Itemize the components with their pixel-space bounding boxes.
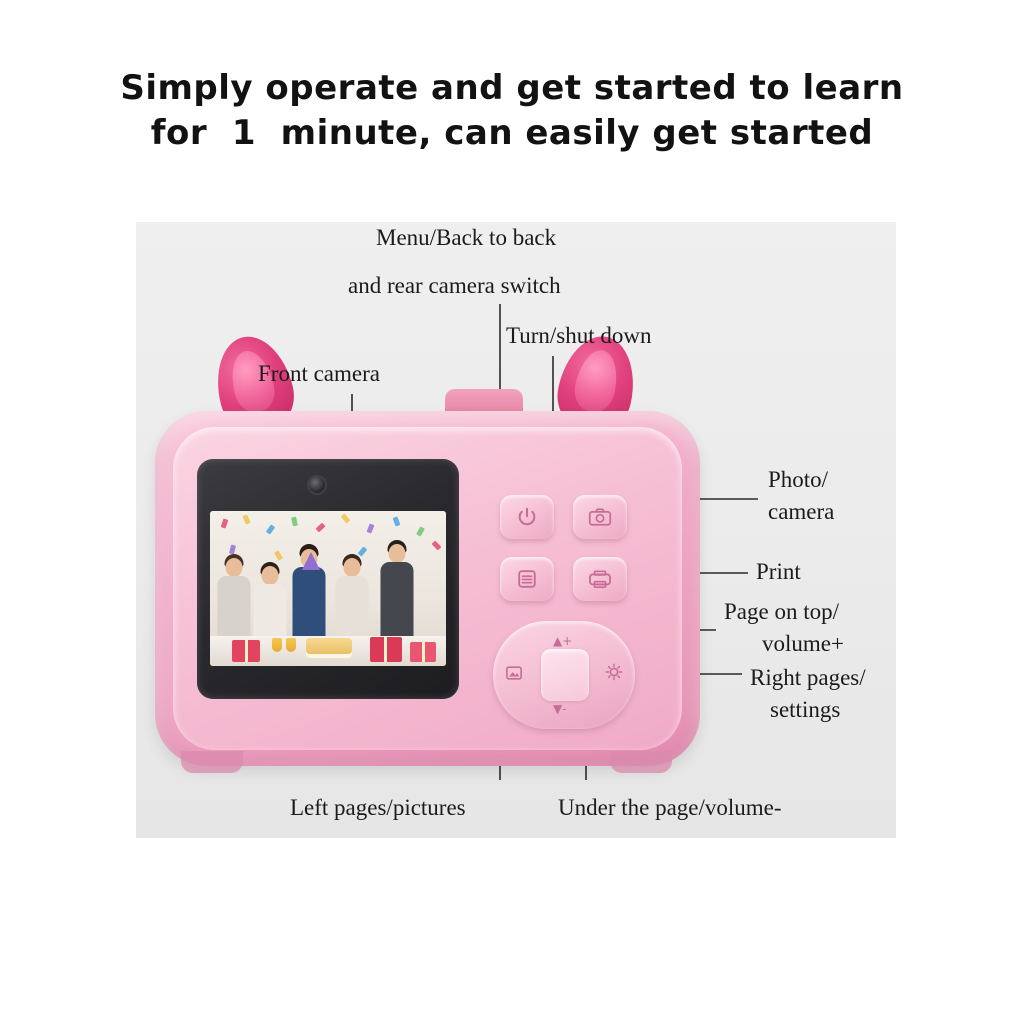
- callout-front-camera: Front camera: [258, 358, 380, 390]
- callout-photo-camera-line-1: Photo/: [768, 464, 828, 496]
- callout-under-page-volume-down: Under the page/volume-: [558, 792, 782, 824]
- dpad-right-key[interactable]: [605, 663, 623, 683]
- screen-bezel: [197, 459, 459, 699]
- callout-menu-back-line-2: and rear camera switch: [348, 270, 561, 302]
- camera-annotated-diagram: ▲+ ▼-: [0, 196, 1024, 896]
- cat-ear-right-inner: [571, 346, 623, 415]
- callout-page-top-line-2: volume+: [762, 628, 844, 660]
- photo-camera-button[interactable]: [573, 495, 627, 539]
- callout-menu-back-line-1: Menu/Back to back: [376, 222, 556, 254]
- dpad-down-key[interactable]: ▼-: [553, 703, 567, 715]
- menu-list-icon: [516, 568, 538, 590]
- camera-foot-left: [181, 751, 243, 773]
- callout-page-top-line-1: Page on top/: [724, 596, 839, 628]
- callout-right-pages-line-2: settings: [770, 694, 840, 726]
- camera-foot-right: [610, 751, 672, 773]
- dpad-left-key[interactable]: [505, 665, 523, 683]
- page-title: Simply operate and get started to learn …: [0, 66, 1024, 156]
- dpad-up-key[interactable]: ▲+: [553, 635, 572, 647]
- printer-icon: [587, 569, 613, 589]
- preview-cake: [306, 638, 352, 658]
- picture-icon: [505, 665, 523, 681]
- power-button[interactable]: [500, 495, 554, 539]
- settings-sun-icon: [605, 663, 623, 681]
- dpad-control[interactable]: ▲+ ▼-: [493, 621, 635, 729]
- camera-body-shell: ▲+ ▼-: [155, 411, 700, 766]
- screen-photo-preview: [210, 511, 446, 666]
- callout-print: Print: [756, 556, 801, 588]
- menu-back-button[interactable]: [500, 557, 554, 601]
- callout-left-pages-pictures: Left pages/pictures: [290, 792, 466, 824]
- callout-photo-camera-line-2: camera: [768, 496, 834, 528]
- power-icon: [516, 506, 538, 528]
- kids-camera-device: ▲+ ▼-: [155, 411, 700, 766]
- front-camera-lens-icon: [309, 477, 325, 493]
- print-button[interactable]: [573, 557, 627, 601]
- page-title-line-2: for 1 minute, can easily get started: [0, 111, 1024, 156]
- camera-icon: [588, 507, 612, 527]
- callout-power: Turn/shut down: [506, 320, 652, 352]
- page-title-line-1: Simply operate and get started to learn: [0, 66, 1024, 111]
- dpad-center-button[interactable]: [541, 649, 589, 701]
- callout-right-pages-line-1: Right pages/: [750, 662, 866, 694]
